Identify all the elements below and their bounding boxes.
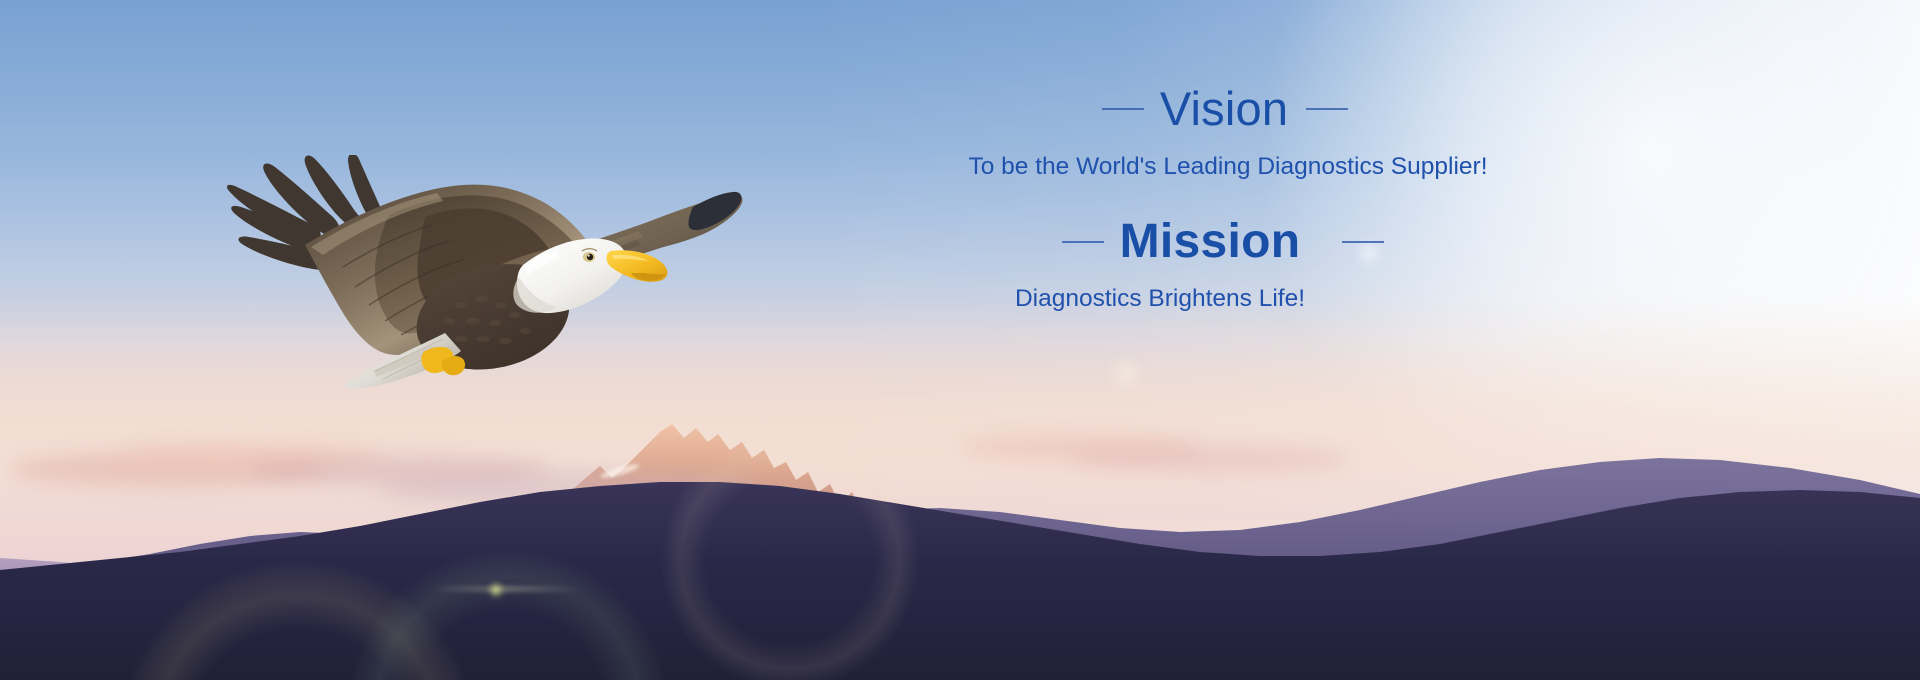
vision-rule-left <box>1102 108 1144 110</box>
mountain-layer-front <box>0 450 1920 680</box>
vision-heading-row: Vision <box>940 85 1510 132</box>
hero-banner: Vision To be the World's Leading Diagnos… <box>0 0 1920 680</box>
mission-heading-row: Mission <box>936 218 1510 266</box>
vision-rule-right <box>1306 108 1348 110</box>
mission-rule-right <box>1342 241 1384 243</box>
vision-heading: Vision <box>1160 85 1288 132</box>
mission-subtitle: Diagnostics Brightens Life! <box>810 284 1510 313</box>
eagle-icon <box>193 155 753 395</box>
mission-rule-left <box>1062 241 1104 243</box>
vision-subtitle: To be the World's Leading Diagnostics Su… <box>946 152 1510 181</box>
vision-mission-text-panel: Vision To be the World's Leading Diagnos… <box>950 85 1510 314</box>
mission-heading: Mission <box>1120 218 1301 266</box>
mission-block: Mission Diagnostics Brightens Life! <box>950 218 1510 313</box>
